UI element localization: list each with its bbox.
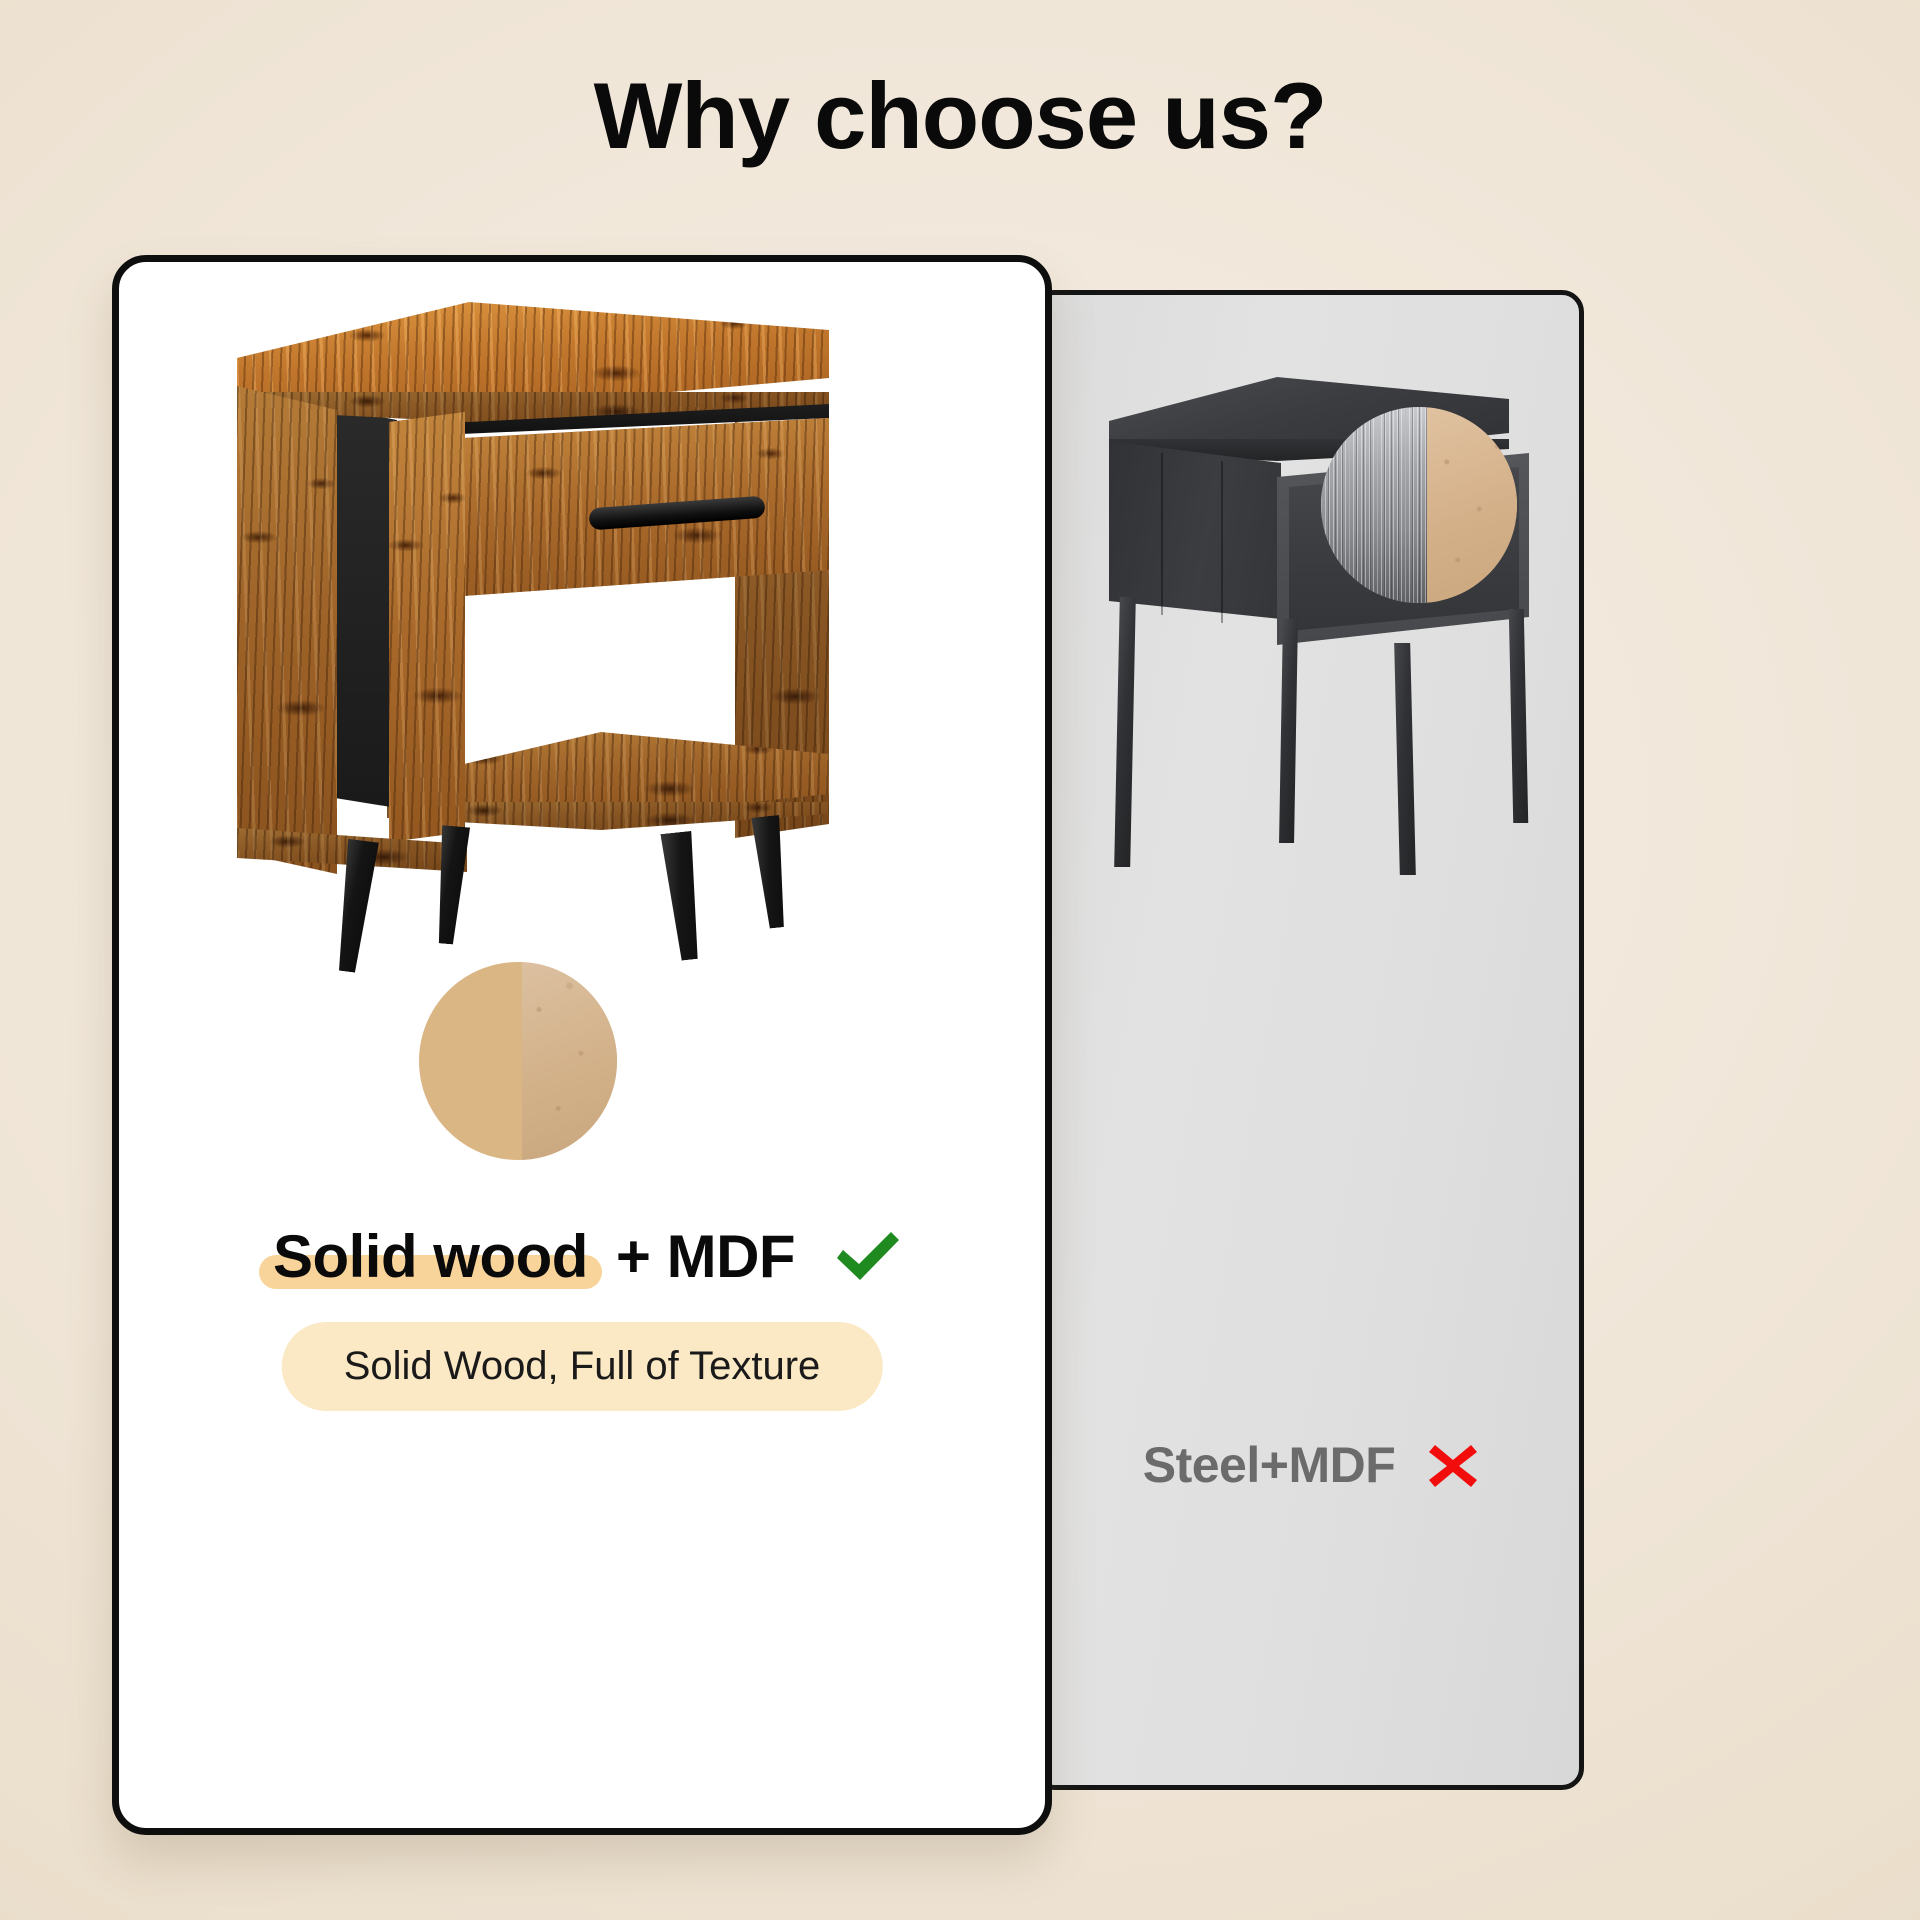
steel-leg bbox=[1114, 597, 1136, 867]
steel-leg bbox=[1394, 643, 1416, 875]
page-title: Why choose us? bbox=[0, 62, 1920, 170]
steel-side-seam bbox=[1161, 453, 1163, 615]
tagline-pill: Solid Wood, Full of Texture bbox=[282, 1322, 883, 1411]
steel-and-mdf-swatch bbox=[1321, 407, 1517, 603]
cross-icon bbox=[1423, 1435, 1483, 1495]
steel-leg bbox=[1279, 619, 1298, 843]
our-material-row: Solid wood + MDF bbox=[119, 1222, 1052, 1291]
wood-nightstand-leg bbox=[660, 831, 707, 962]
wood-left-panel bbox=[237, 386, 337, 874]
competitor-panel: Steel+MDF bbox=[1032, 290, 1584, 1790]
check-icon bbox=[831, 1226, 905, 1288]
solid-wood-label: Solid wood bbox=[273, 1223, 588, 1290]
steel-leg bbox=[1509, 609, 1528, 823]
wood-nightstand-leg bbox=[751, 815, 793, 930]
steel-side-seam bbox=[1221, 461, 1223, 623]
wood-inner-back-panel bbox=[335, 408, 397, 808]
solid-oak-half bbox=[419, 962, 522, 1160]
competitor-material-row: Steel+MDF bbox=[1037, 1435, 1584, 1495]
our-product-card: Solid wood + MDF Solid Wood, Full of Tex… bbox=[112, 255, 1052, 1835]
solid-wood-and-mdf-swatch bbox=[419, 962, 617, 1160]
rustic-brown-wood-nightstand-image bbox=[237, 280, 877, 980]
plus-mdf-label: + MDF bbox=[616, 1222, 795, 1291]
solid-wood-highlight-wrapper: Solid wood bbox=[273, 1222, 588, 1291]
mdf-half bbox=[522, 962, 617, 1160]
competitor-material-label: Steel+MDF bbox=[1143, 1436, 1396, 1494]
wood-front-post bbox=[389, 412, 465, 842]
